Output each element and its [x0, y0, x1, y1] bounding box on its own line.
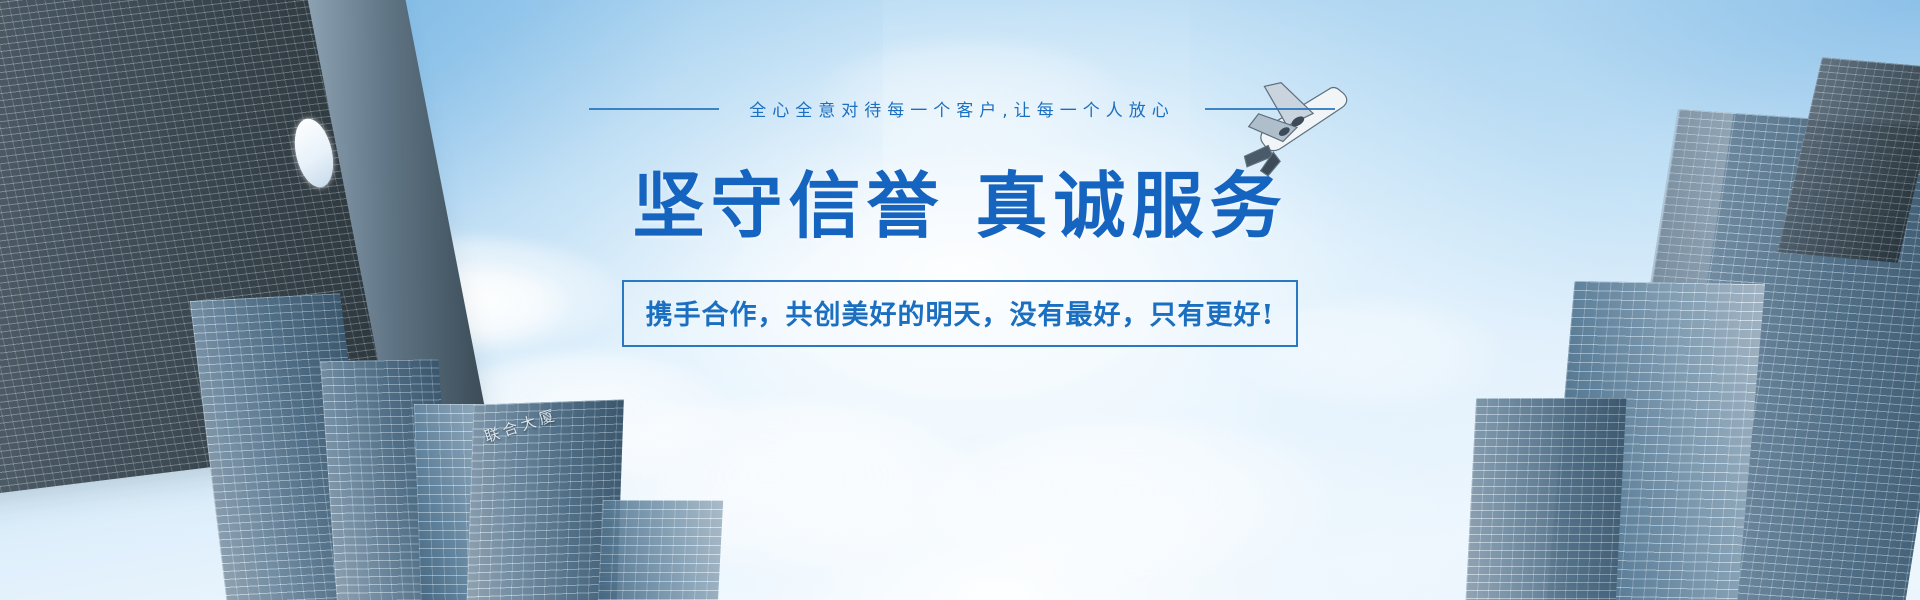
headline-text: 坚守信誉 真诚服务: [632, 147, 1287, 252]
subtitle-box: 携手合作，共创美好的明天，没有最好，只有更好!: [622, 280, 1299, 347]
tagline-text: 全心全意对待每一个客户,让每一个人放心: [749, 96, 1174, 121]
decorative-rule-left-icon: [589, 108, 719, 110]
cloud: [930, 420, 1330, 580]
subtitle-text: 携手合作，共创美好的明天，没有最好，只有更好!: [646, 293, 1275, 332]
hero-banner: 联合大厦 全心全意对待每一个客户,让每一个人放心: [0, 0, 1920, 600]
banner-content: 全心全意对待每一个客户,让每一个人放心 坚守信誉 真诚服务 携手合作，共创美好的…: [0, 96, 1920, 347]
building-right-3: [1464, 398, 1627, 600]
tagline-row: 全心全意对待每一个客户,让每一个人放心: [589, 96, 1334, 121]
building-mid-small: [597, 500, 723, 600]
decorative-rule-right-icon: [1205, 108, 1335, 110]
